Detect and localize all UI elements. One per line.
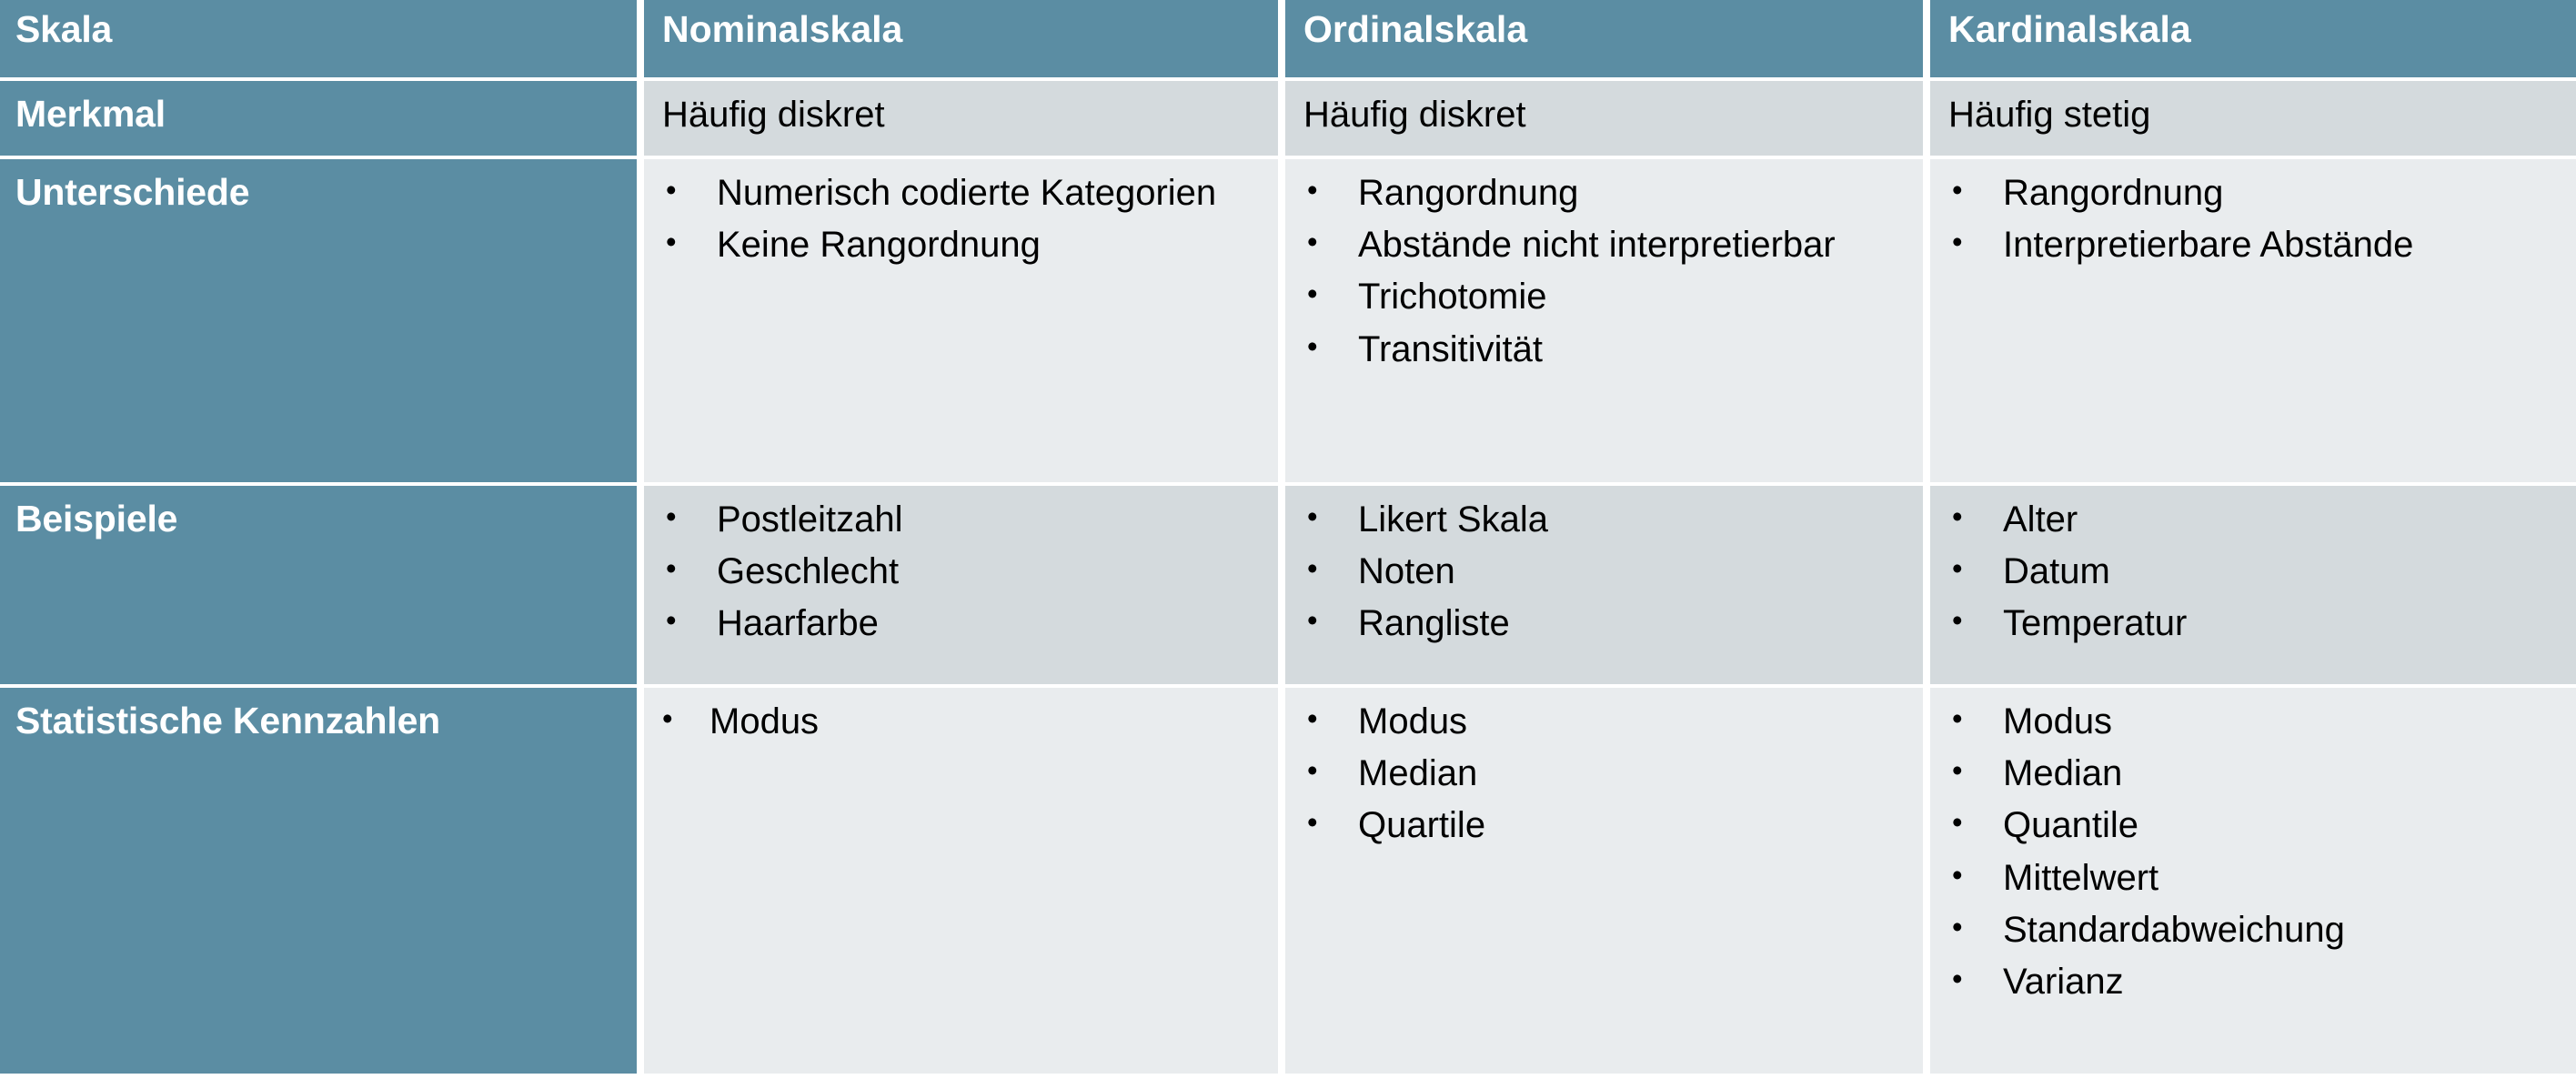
bullet-item: Rangordnung (1303, 172, 1914, 215)
table-corner-header: Skala (0, 0, 637, 77)
bullet-item: Datum (1948, 550, 2576, 593)
cell-kennzahlen-nominalskala: Modus (644, 688, 1278, 1074)
bullet-item: Alter (1948, 499, 2576, 541)
cell-text: Häufig stetig (1948, 94, 2576, 134)
cell-text: Häufig diskret (662, 94, 1269, 134)
row-header-statistische-kennzahlen: Statistische Kennzahlen (0, 688, 637, 1074)
bullet-list: Numerisch codierte KategorienKeine Rango… (662, 172, 1269, 267)
cell-beispiele-ordinalskala: Likert SkalaNotenRangliste (1285, 486, 1923, 684)
cell-kennzahlen-ordinalskala: ModusMedianQuartile (1285, 688, 1923, 1074)
bullet-item: Keine Rangordnung (662, 224, 1269, 267)
scale-levels-table: Skala Nominalskala Ordinalskala Kardinal… (0, 0, 2576, 1079)
bullet-item: Modus (1948, 701, 2576, 743)
column-header-kardinalskala: Kardinalskala (1930, 0, 2576, 77)
row-header-merkmal: Merkmal (0, 81, 637, 156)
bullet-list: Modus (662, 701, 1269, 743)
cell-unterschiede-kardinalskala: RangordnungInterpretierbare Abstände (1930, 159, 2576, 482)
cell-unterschiede-nominalskala: Numerisch codierte KategorienKeine Rango… (644, 159, 1278, 482)
row-header-unterschiede: Unterschiede (0, 159, 637, 482)
bullet-item: Interpretierbare Abstände (1948, 224, 2576, 267)
bullet-item: Rangordnung (1948, 172, 2576, 215)
bullet-item: Haarfarbe (662, 602, 1269, 645)
bullet-item: Numerisch codierte Kategorien (662, 172, 1269, 215)
bullet-list: AlterDatumTemperatur (1948, 499, 2576, 646)
cell-merkmal-nominalskala: Häufig diskret (644, 81, 1278, 156)
bullet-item: Quantile (1948, 804, 2576, 847)
bullet-item: Modus (662, 701, 1269, 743)
bullet-item: Quartile (1303, 804, 1914, 847)
bullet-item: Median (1948, 752, 2576, 795)
column-header-ordinalskala: Ordinalskala (1285, 0, 1923, 77)
bullet-item: Rangliste (1303, 602, 1914, 645)
cell-merkmal-kardinalskala: Häufig stetig (1930, 81, 2576, 156)
bullet-item: Geschlecht (662, 550, 1269, 593)
bullet-list: RangordnungInterpretierbare Abstände (1948, 172, 2576, 267)
bullet-list: ModusMedianQuartile (1303, 701, 1914, 848)
bullet-item: Mittelwert (1948, 857, 2576, 900)
column-header-nominalskala: Nominalskala (644, 0, 1278, 77)
bullet-item: Modus (1303, 701, 1914, 743)
cell-beispiele-nominalskala: PostleitzahlGeschlechtHaarfarbe (644, 486, 1278, 684)
bullet-item: Temperatur (1948, 602, 2576, 645)
bullet-list: Likert SkalaNotenRangliste (1303, 499, 1914, 646)
cell-beispiele-kardinalskala: AlterDatumTemperatur (1930, 486, 2576, 684)
cell-merkmal-ordinalskala: Häufig diskret (1285, 81, 1923, 156)
bullet-item: Noten (1303, 550, 1914, 593)
bullet-item: Varianz (1948, 961, 2576, 1003)
bullet-list: ModusMedianQuantileMittelwertStandardabw… (1948, 701, 2576, 1003)
bullet-item: Trichotomie (1303, 276, 1914, 318)
cell-unterschiede-ordinalskala: RangordnungAbstände nicht interpretierba… (1285, 159, 1923, 482)
bullet-item: Median (1303, 752, 1914, 795)
bullet-item: Abstände nicht interpretierbar (1303, 224, 1914, 267)
bullet-item: Postleitzahl (662, 499, 1269, 541)
row-header-beispiele: Beispiele (0, 486, 637, 684)
bullet-item: Likert Skala (1303, 499, 1914, 541)
bullet-list: PostleitzahlGeschlechtHaarfarbe (662, 499, 1269, 646)
table-grid: Skala Nominalskala Ordinalskala Kardinal… (0, 0, 2576, 1079)
bullet-item: Transitivität (1303, 328, 1914, 371)
cell-text: Häufig diskret (1303, 94, 1914, 134)
cell-kennzahlen-kardinalskala: ModusMedianQuantileMittelwertStandardabw… (1930, 688, 2576, 1074)
bullet-list: RangordnungAbstände nicht interpretierba… (1303, 172, 1914, 371)
bullet-item: Standardabweichung (1948, 909, 2576, 952)
